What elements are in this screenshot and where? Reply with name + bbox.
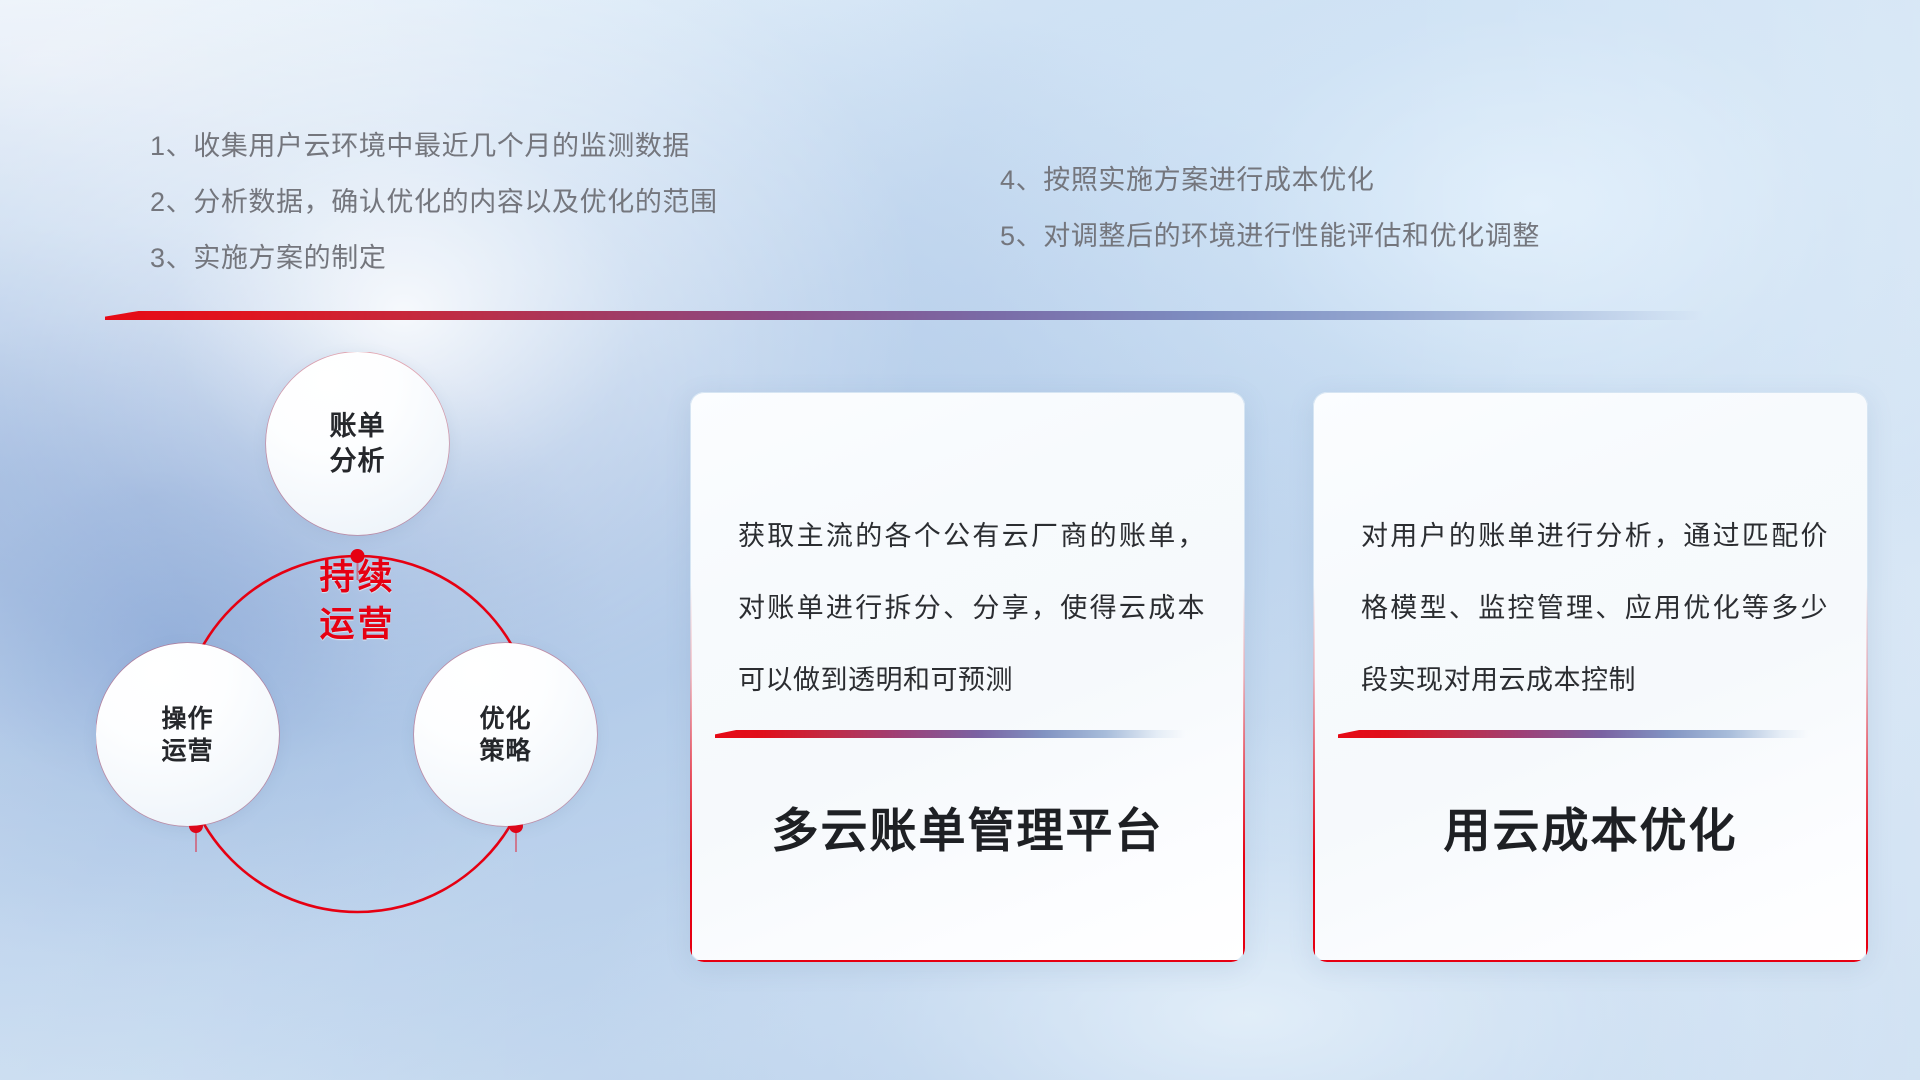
center-label-line-1: 持续 xyxy=(266,555,449,602)
diagram-center-label: 持续 运营 xyxy=(266,555,449,649)
card-divider-line xyxy=(715,730,1185,741)
continuous-operation-diagram: 账单 分析 操作 运营 优化 策略 持续 运营 xyxy=(96,352,656,952)
lobe-label-line-1: 账单 xyxy=(330,409,386,444)
section-divider-bar xyxy=(105,311,1705,320)
step-item-2: 2、分析数据，确认优化的内容以及优化的范围 xyxy=(150,174,718,230)
step-item-4: 4、按照实施方案进行成本优化 xyxy=(1000,152,1540,208)
card-body-text: 对用户的账单进行分析，通过匹配价格模型、监控管理、应用优化等多少段实现对用云成本… xyxy=(1361,500,1828,716)
lobe-label-line-2: 运营 xyxy=(161,735,213,767)
card-multicloud-billing-platform[interactable]: 获取主流的各个公有云厂商的账单，对账单进行拆分、分享，使得云成本可以做到透明和可… xyxy=(690,392,1245,962)
lobe-label-line-2: 分析 xyxy=(330,444,386,479)
card-title: 多云账单管理平台 xyxy=(690,792,1245,861)
lobe-label-line-1: 操作 xyxy=(161,703,213,735)
steps-left-column: 1、收集用户云环境中最近几个月的监测数据 2、分析数据，确认优化的内容以及优化的… xyxy=(150,118,718,286)
diagram-lobe-operation[interactable]: 操作 运营 xyxy=(96,643,279,826)
step-item-1: 1、收集用户云环境中最近几个月的监测数据 xyxy=(150,118,718,174)
card-cloud-cost-optimization[interactable]: 对用户的账单进行分析，通过匹配价格模型、监控管理、应用优化等多少段实现对用云成本… xyxy=(1313,392,1868,962)
card-body-text: 获取主流的各个公有云厂商的账单，对账单进行拆分、分享，使得云成本可以做到透明和可… xyxy=(738,500,1205,716)
card-divider-line xyxy=(1338,730,1808,741)
step-item-5: 5、对调整后的环境进行性能评估和优化调整 xyxy=(1000,208,1540,264)
steps-right-column: 4、按照实施方案进行成本优化 5、对调整后的环境进行性能评估和优化调整 xyxy=(1000,152,1540,264)
diagram-lobe-optimization-strategy[interactable]: 优化 策略 xyxy=(414,643,597,826)
center-label-line-2: 运营 xyxy=(266,602,449,649)
lobe-label-line-1: 优化 xyxy=(479,703,531,735)
diagram-lobe-bill-analysis[interactable]: 账单 分析 xyxy=(266,352,449,535)
step-item-3: 3、实施方案的制定 xyxy=(150,230,718,286)
card-divider-bar xyxy=(1338,730,1808,738)
card-title: 用云成本优化 xyxy=(1313,792,1868,861)
section-divider-line xyxy=(105,311,1705,323)
card-divider-bar xyxy=(715,730,1185,738)
lobe-label-line-2: 策略 xyxy=(479,735,531,767)
